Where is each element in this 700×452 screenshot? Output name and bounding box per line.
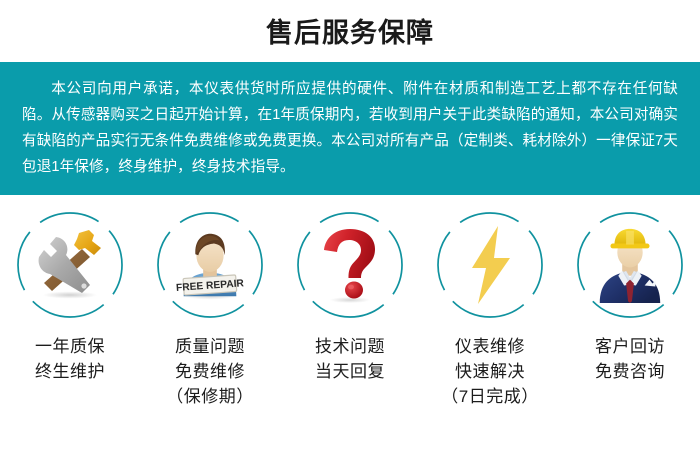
feature-list: 一年质保 终生维护 [0, 195, 700, 409]
wrench-hammer-icon [31, 226, 109, 304]
lightning-bolt-icon [451, 226, 529, 304]
feature-item-fast-repair[interactable]: 仪表维修 快速解决 （7日完成） [420, 211, 560, 409]
warranty-promise-banner: 本公司向用户承诺，本仪表供货时所应提供的硬件、附件在材质和制造工艺上都不存在任何… [0, 62, 700, 195]
feature-caption: 质量问题 免费维修 （保修期） [166, 334, 254, 409]
feature-caption: 仪表维修 快速解决 （7日完成） [441, 334, 538, 409]
feature-item-customer-visit[interactable]: 客户回访 免费咨询 [560, 211, 700, 409]
feature-caption: 技术问题 当天回复 [315, 334, 385, 384]
feature-icon-circle [16, 211, 124, 319]
feature-item-warranty[interactable]: 一年质保 终生维护 [0, 211, 140, 409]
free-repair-person-icon: FREE REPAIR [171, 226, 249, 304]
feature-item-free-repair[interactable]: FREE REPAIR 质量问题 免费维修 （保修期） [140, 211, 280, 409]
feature-icon-circle: FREE REPAIR [156, 211, 264, 319]
page-title: 售后服务保障 [266, 20, 434, 47]
title-bar: 售后服务保障 [0, 0, 700, 62]
feature-icon-circle [296, 211, 404, 319]
warranty-promise-text: 本公司向用户承诺，本仪表供货时所应提供的硬件、附件在材质和制造工艺上都不存在任何… [22, 76, 678, 180]
feature-icon-circle [436, 211, 544, 319]
feature-icon-circle [576, 211, 684, 319]
engineer-hardhat-icon [591, 226, 669, 304]
question-mark-icon [311, 226, 389, 304]
feature-caption: 客户回访 免费咨询 [595, 334, 665, 384]
feature-item-tech-question[interactable]: 技术问题 当天回复 [280, 211, 420, 409]
feature-caption: 一年质保 终生维护 [35, 334, 105, 384]
